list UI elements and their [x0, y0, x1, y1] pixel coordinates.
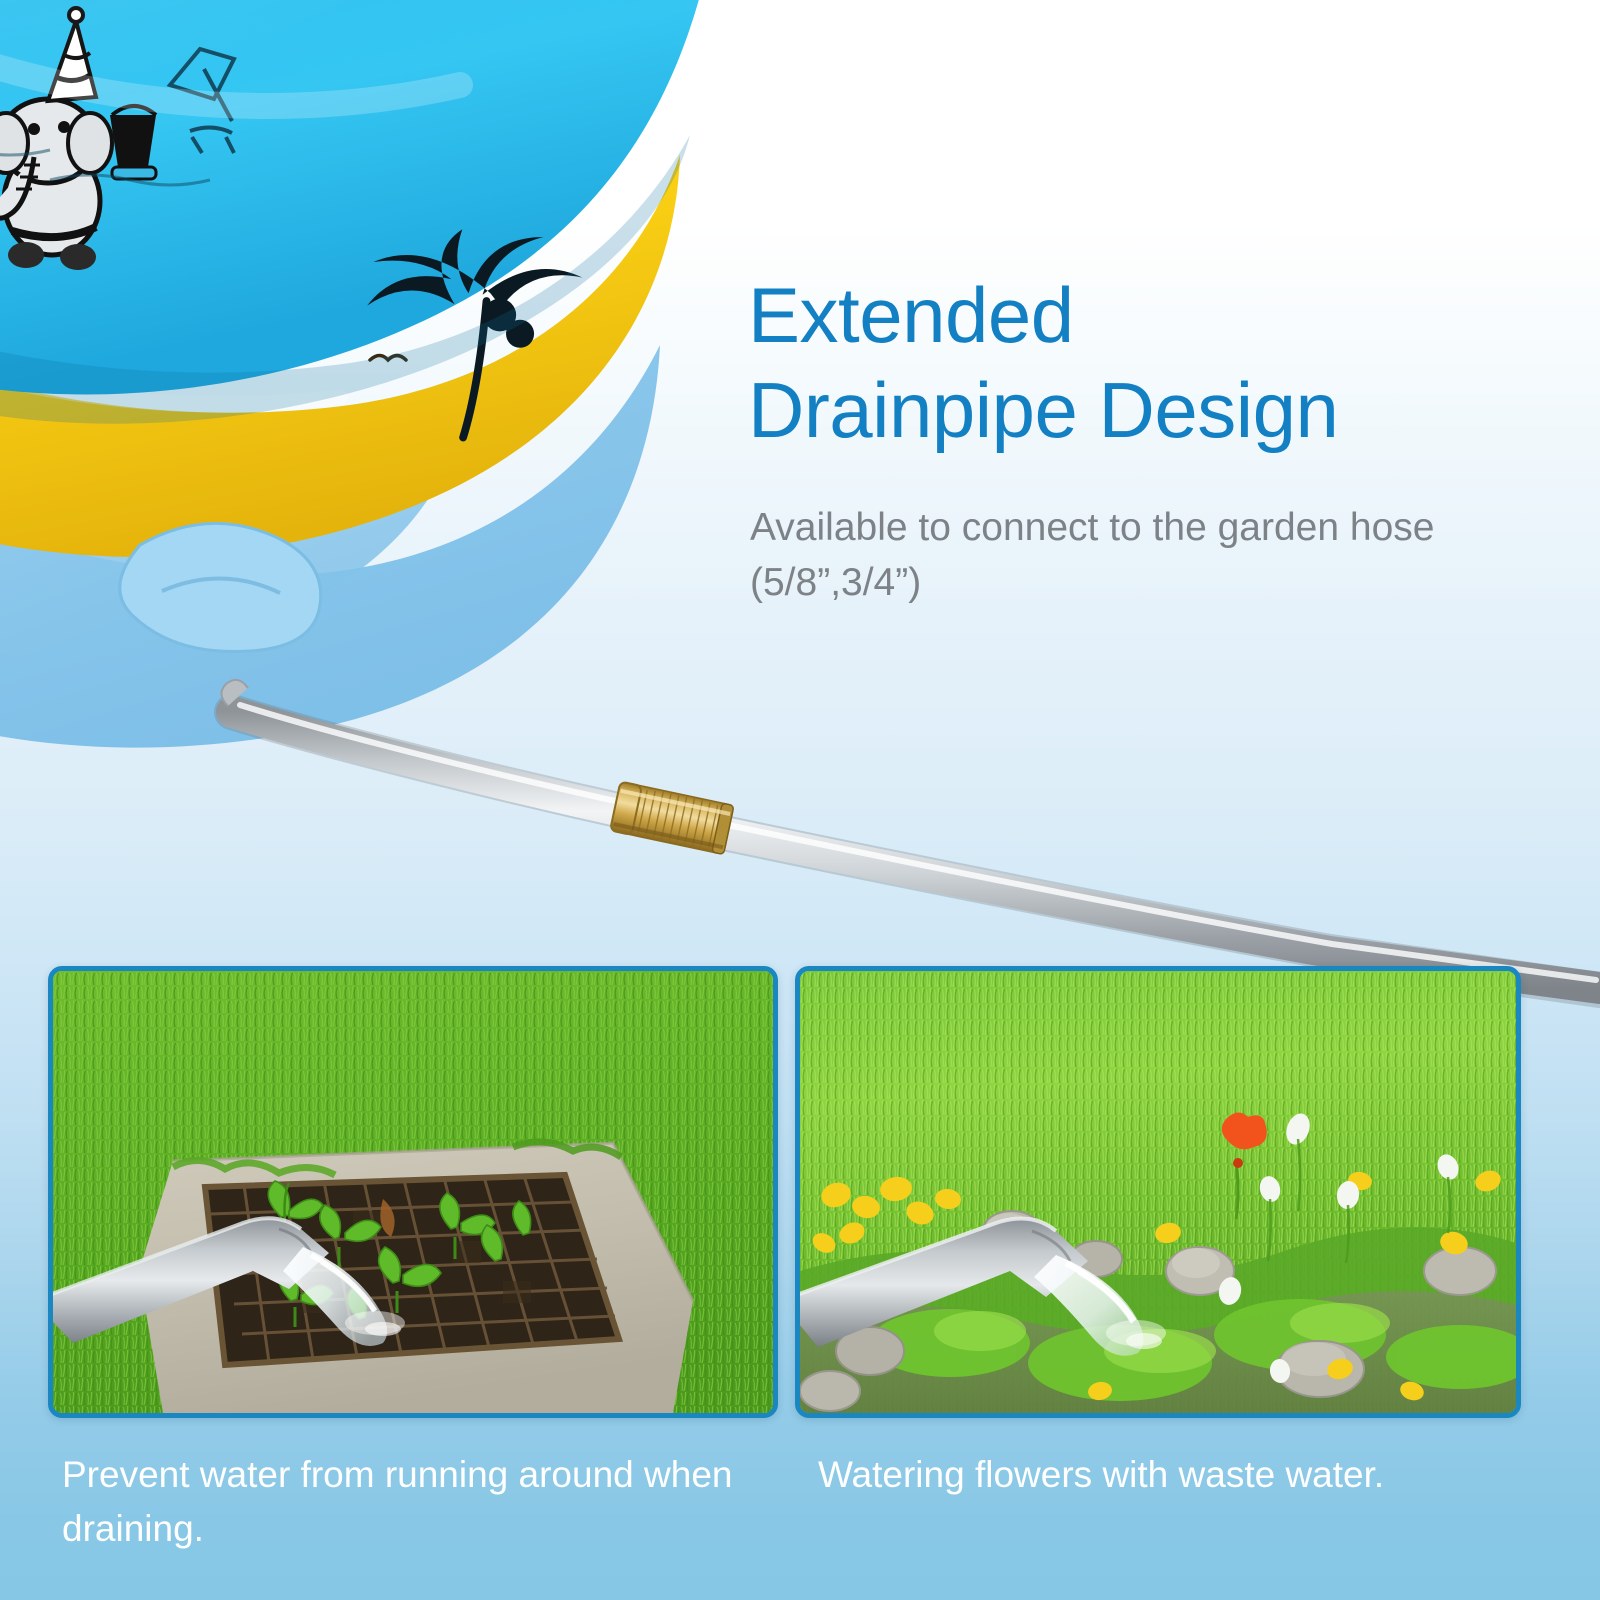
photo-panel-drain-grate — [48, 966, 778, 1418]
caption-right: Watering flowers with waste water. — [818, 1448, 1518, 1502]
headline-line-2: Drainpipe Design — [748, 363, 1568, 458]
page-subtitle: Available to connect to the garden hose … — [750, 500, 1450, 611]
photo-panel-flowers — [795, 966, 1521, 1418]
page-title: Extended Drainpipe Design — [748, 268, 1568, 458]
pool-rim-sky-band — [0, 0, 730, 438]
beach-bucket — [110, 106, 156, 179]
flower-watering-photo — [800, 971, 1516, 1413]
caption-left: Prevent water from running around when d… — [62, 1448, 762, 1555]
drain-grate-photo — [53, 971, 773, 1413]
product-feature-poster: Extended Drainpipe Design Available to c… — [0, 0, 1600, 1600]
pool-illustration — [0, 0, 730, 885]
inflatable-pool-svg — [0, 0, 730, 885]
headline-line-1: Extended — [748, 271, 1074, 359]
